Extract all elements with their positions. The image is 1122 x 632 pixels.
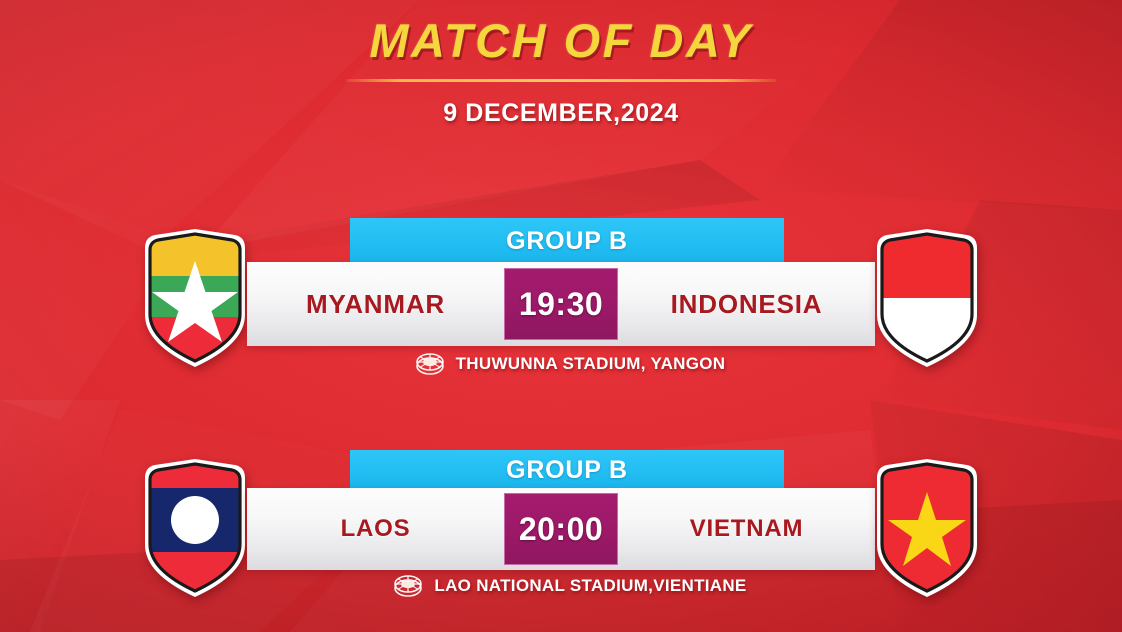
match-bar: LAOS 20:00 VIETNAM <box>247 488 875 570</box>
venue-row: LAO NATIONAL STADIUM,VIENTIANE <box>350 572 790 600</box>
match-bar: MYANMAR 19:30 INDONESIA <box>247 262 875 346</box>
away-team-name: INDONESIA <box>618 289 875 320</box>
header: MATCH OF DAY 9 DECEMBER,2024 <box>0 0 1122 128</box>
venue-name: LAO NATIONAL STADIUM,VIENTIANE <box>434 576 746 596</box>
group-label: GROUP B <box>506 227 628 256</box>
kickoff-time: 20:00 <box>519 511 603 548</box>
home-team-name: LAOS <box>247 515 504 543</box>
group-banner: GROUP B <box>350 450 784 490</box>
header-date: 9 DECEMBER,2024 <box>0 99 1122 128</box>
indonesia-flag-shield <box>872 228 982 368</box>
laos-flag-shield <box>140 458 250 598</box>
page-title: MATCH OF DAY <box>0 13 1122 68</box>
stadium-icon <box>415 352 445 376</box>
kickoff-time-box: 19:30 <box>504 268 618 340</box>
stadium-icon <box>393 574 423 598</box>
venue-name: THUWUNNA STADIUM, YANGON <box>456 354 726 374</box>
away-team-name: VIETNAM <box>618 515 875 543</box>
venue-row: THUWUNNA STADIUM, YANGON <box>350 350 790 378</box>
kickoff-time: 19:30 <box>519 286 603 323</box>
myanmar-flag-shield <box>140 228 250 368</box>
title-divider <box>346 79 776 82</box>
vietnam-flag-shield <box>872 458 982 598</box>
group-banner: GROUP B <box>350 218 784 264</box>
group-label: GROUP B <box>506 456 628 485</box>
kickoff-time-box: 20:00 <box>504 493 618 565</box>
home-team-name: MYANMAR <box>247 289 504 320</box>
